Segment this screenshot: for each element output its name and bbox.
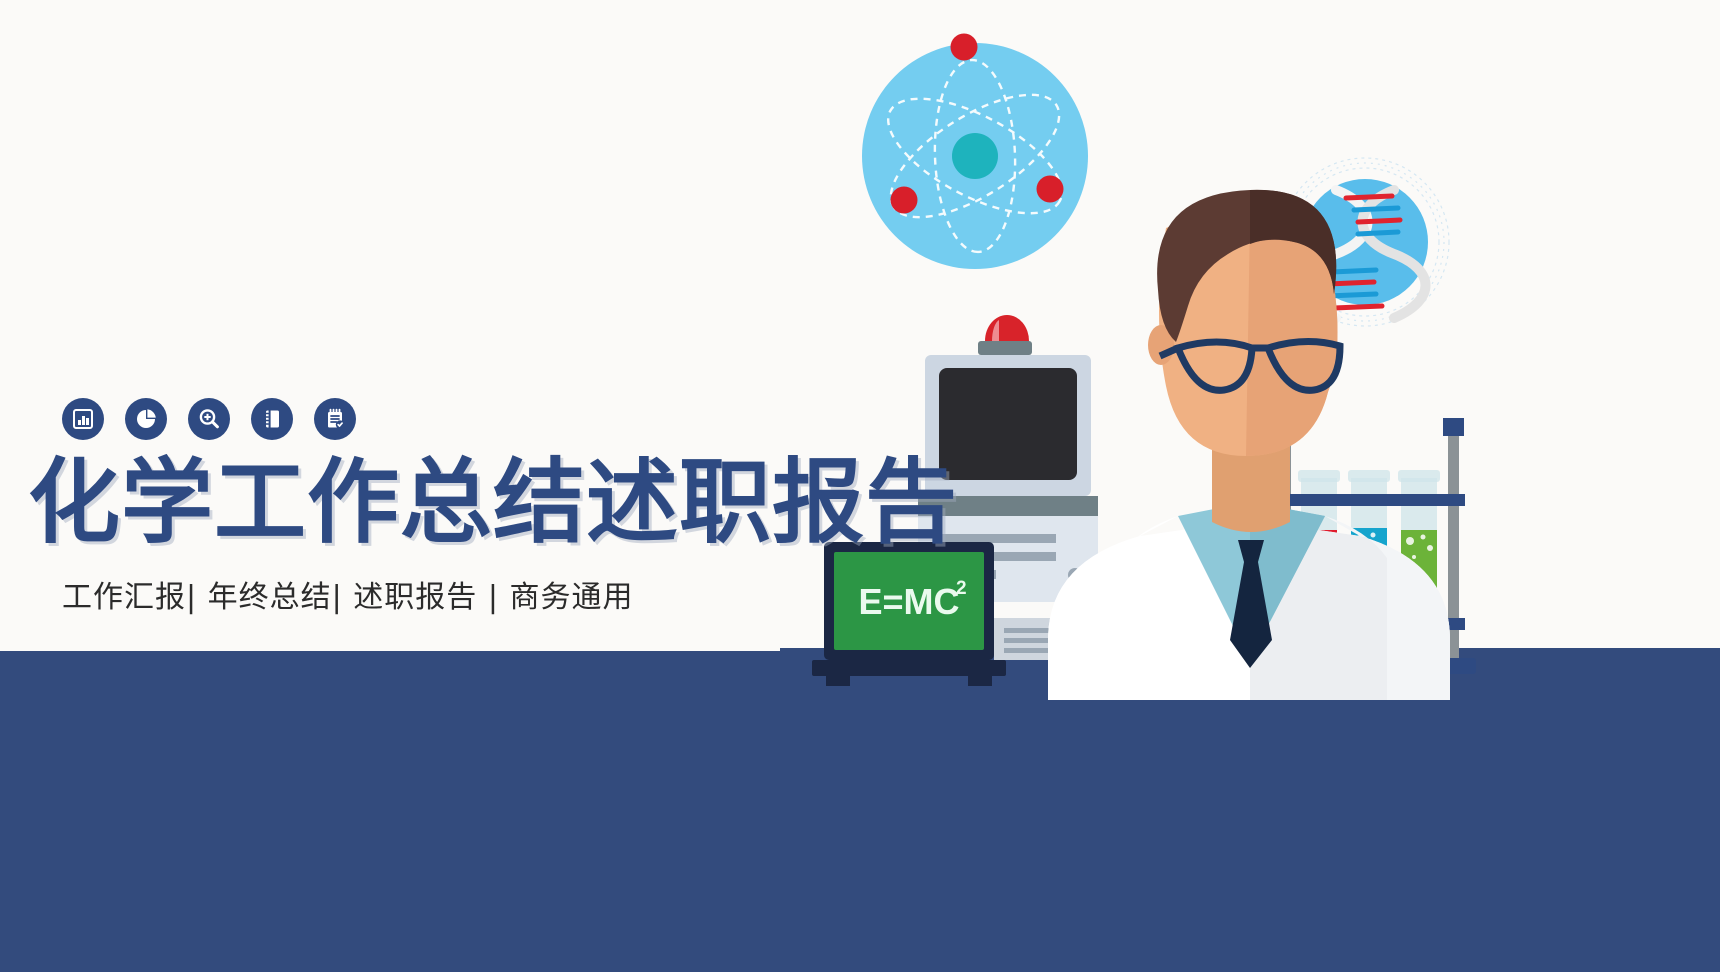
presentation-slide: E=MC 2 bbox=[0, 0, 1720, 972]
laptop-screen-exponent: 2 bbox=[956, 578, 967, 599]
feature-icon-row bbox=[62, 398, 356, 440]
atom-illustration bbox=[862, 34, 1088, 270]
page-title: 化学工作总结述职报告 bbox=[28, 455, 888, 552]
bar-chart-icon[interactable] bbox=[62, 398, 104, 440]
laptop-screen-formula: E=MC bbox=[858, 581, 959, 622]
page-subtitle: 工作汇报| 年终总结| 述职报告 | 商务通用 bbox=[62, 572, 633, 616]
notebook-icon[interactable] bbox=[251, 398, 293, 440]
zoom-in-icon[interactable] bbox=[188, 398, 230, 440]
checklist-icon[interactable] bbox=[314, 398, 356, 440]
pie-chart-icon[interactable] bbox=[125, 398, 167, 440]
illustration-area: E=MC 2 bbox=[780, 0, 1720, 700]
